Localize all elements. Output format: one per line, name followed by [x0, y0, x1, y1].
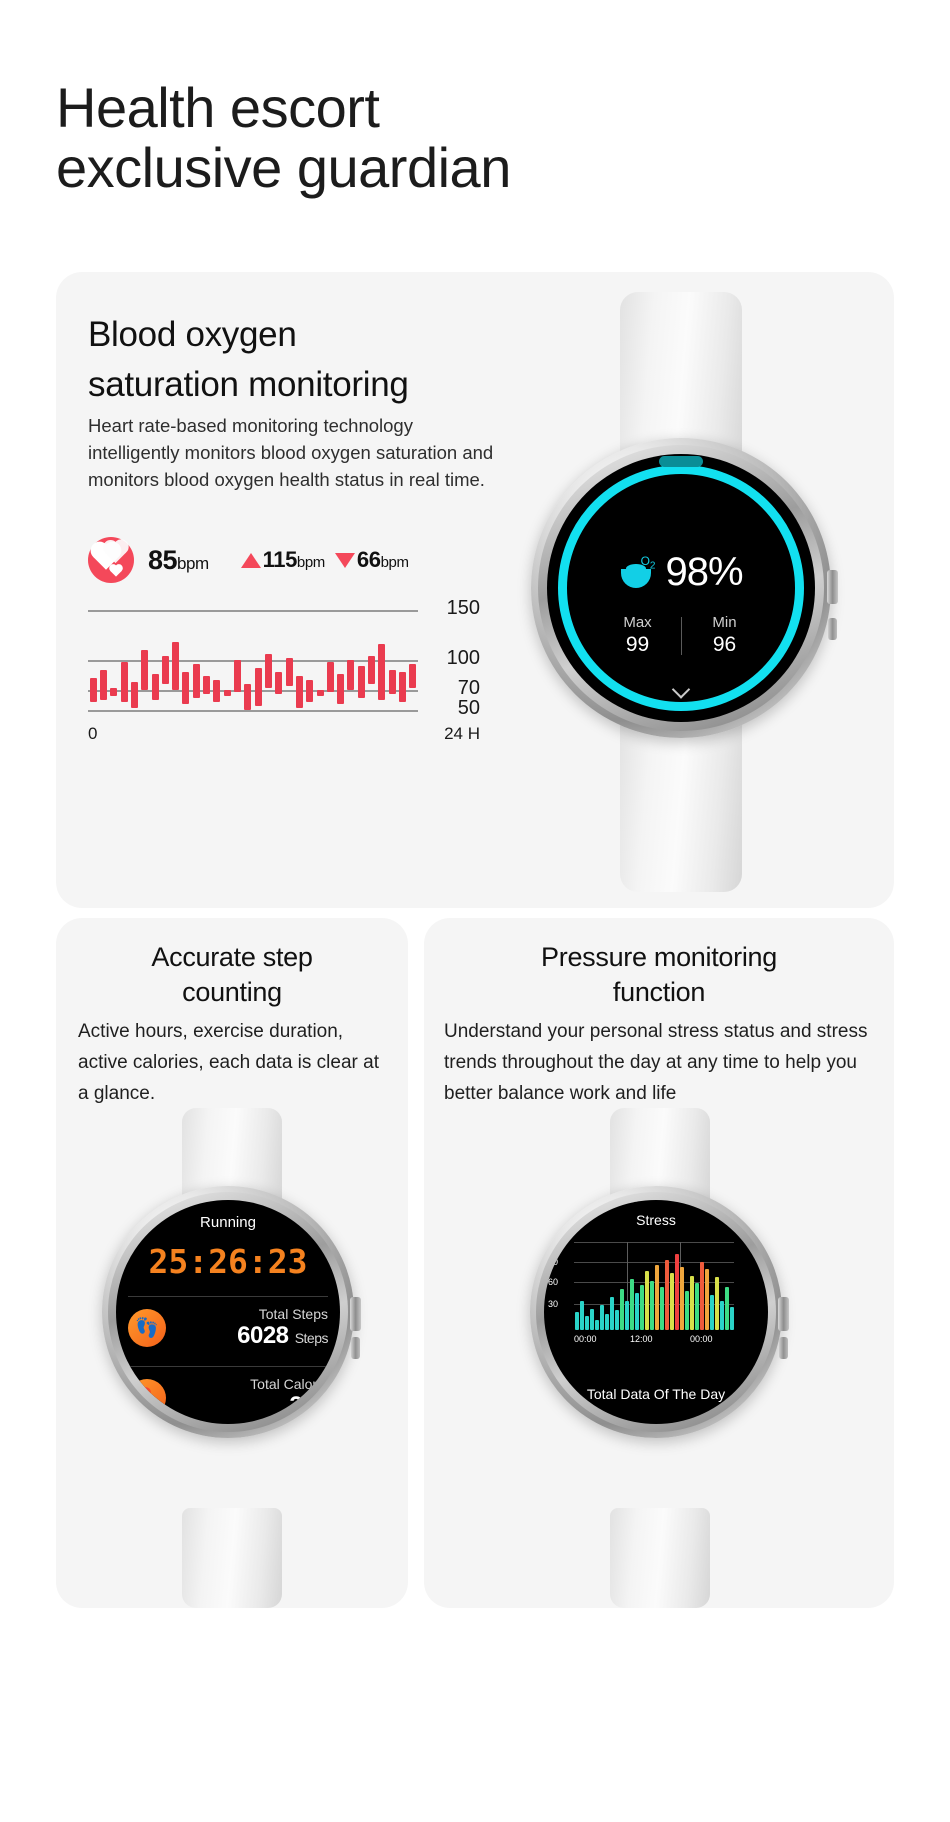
stress-bar	[705, 1269, 709, 1330]
watch-case: Stress 10080603000:0012:0000:00 Total Da…	[530, 1186, 782, 1438]
stress-bar	[680, 1267, 684, 1330]
blood-oxygen-card: Blood oxygen saturation monitoring Heart…	[56, 272, 894, 908]
stress-y-tick: 60	[548, 1277, 558, 1287]
chart-bar	[275, 672, 282, 694]
stress-x-tick: 12:00	[630, 1334, 653, 1344]
divider	[128, 1296, 328, 1297]
chart-bar	[172, 642, 179, 690]
stress-bar	[625, 1301, 629, 1330]
current-bpm: 85bpm	[148, 545, 209, 576]
stress-bar	[720, 1301, 724, 1330]
chart-bar	[203, 676, 210, 694]
stress-bar	[700, 1262, 704, 1330]
page-title-line2: exclusive guardian	[56, 138, 511, 198]
watch-case: O2 98% Max 99 Min 96	[531, 438, 831, 738]
chart-bar	[162, 656, 169, 684]
chart-bar	[306, 680, 313, 702]
blood-oxygen-description: Heart rate-based monitoring technology i…	[88, 412, 508, 493]
stress-x-tick: 00:00	[690, 1334, 713, 1344]
min-arrow-down-icon	[335, 553, 355, 568]
chart-bar	[182, 672, 189, 704]
chart-bar	[286, 658, 293, 686]
stress-gridline	[574, 1282, 734, 1283]
heart-rate-summary: 85bpm 115bpm 66bpm	[88, 536, 518, 584]
oxygen-min-value: 96	[682, 633, 768, 657]
chart-bar	[152, 674, 159, 700]
stress-screen-title: Stress	[544, 1212, 768, 1228]
total-steps-unit: Steps	[295, 1330, 328, 1346]
stress-bar	[725, 1287, 729, 1330]
stress-bar	[715, 1277, 719, 1330]
chart-bar	[131, 682, 138, 708]
watch-screen: O2 98% Max 99 Min 96	[547, 454, 815, 722]
flame-icon: 🔥	[128, 1379, 166, 1417]
watch-crown[interactable]	[350, 1297, 361, 1331]
watch-side-button[interactable]	[828, 618, 837, 640]
total-calorie-text: Total Calorie 328	[166, 1376, 328, 1420]
oxygen-max-value: 99	[595, 633, 681, 657]
max-arrow-up-icon	[241, 553, 261, 568]
stress-bar	[600, 1305, 604, 1330]
run-mode-label: Running	[116, 1214, 340, 1231]
oxygen-ring-gap	[659, 456, 703, 467]
max-bpm: 115bpm	[263, 547, 325, 573]
chart-bar	[337, 674, 344, 704]
chart-bar	[213, 680, 220, 702]
chart-bar	[389, 670, 396, 694]
chart-gridline	[88, 710, 418, 712]
stress-bar	[605, 1314, 609, 1330]
watch-side-button[interactable]	[779, 1337, 788, 1359]
min-bpm-value: 66	[357, 547, 381, 572]
watch-screen: Running 25:26:23 👣 Total Steps 6028 Step…	[116, 1200, 340, 1424]
min-bpm: 66bpm	[357, 547, 409, 573]
chart-bar	[265, 654, 272, 688]
total-calorie-value: 328	[166, 1392, 328, 1420]
heart-rate-chart: 1501007050 024 H	[88, 600, 480, 740]
chart-gridline	[88, 610, 418, 612]
stress-bar	[635, 1293, 639, 1330]
stress-bar	[670, 1273, 674, 1330]
watch-case: Running 25:26:23 👣 Total Steps 6028 Step…	[102, 1186, 354, 1438]
stress-bar	[675, 1254, 679, 1330]
stress-bar	[595, 1320, 599, 1330]
stress-chart: 10080603000:0012:0000:00	[574, 1242, 734, 1330]
chart-bar	[255, 668, 262, 706]
product-page: Health escort exclusive guardian Blood o…	[0, 0, 950, 1822]
stress-bar	[650, 1281, 654, 1330]
stress-bar	[630, 1279, 634, 1330]
watch-strap-bottom	[182, 1508, 282, 1608]
chart-bar	[224, 690, 231, 696]
chart-bar	[141, 650, 148, 690]
pressure-monitoring-card: Pressure monitoring function Understand …	[424, 918, 894, 1608]
stress-bar	[590, 1309, 594, 1331]
oxygen-max-cell: Max 99	[595, 614, 681, 657]
oxygen-drop-icon: O2	[619, 556, 653, 590]
stress-bar	[585, 1316, 589, 1330]
total-steps-text: Total Steps 6028 Steps	[166, 1306, 328, 1350]
pressure-monitoring-title: Pressure monitoring function	[424, 940, 894, 1010]
stress-bar	[580, 1301, 584, 1330]
steps-watch-render: Running 25:26:23 👣 Total Steps 6028 Step…	[74, 1108, 390, 1608]
stress-y-tick: 100	[548, 1237, 563, 1247]
chart-bar	[317, 690, 324, 696]
chart-bar	[244, 684, 251, 710]
pressure-title-line2: function	[613, 977, 705, 1007]
stress-gridline	[574, 1262, 734, 1263]
run-timer: 25:26:23	[116, 1242, 340, 1281]
step-title-line2: counting	[182, 977, 282, 1007]
max-bpm-unit: bpm	[297, 554, 325, 571]
stress-bar	[695, 1283, 699, 1330]
heart-icon	[88, 537, 134, 583]
stress-watch-render: Stress 10080603000:0012:0000:00 Total Da…	[502, 1108, 818, 1608]
stress-x-tick: 00:00	[574, 1334, 597, 1344]
chart-bar	[234, 660, 241, 692]
pressure-title-line1: Pressure monitoring	[541, 942, 777, 972]
watch-crown[interactable]	[827, 570, 838, 604]
blood-oxygen-title-line2: saturation monitoring	[88, 365, 409, 404]
stress-bar	[640, 1285, 644, 1330]
chart-bar	[378, 644, 385, 700]
stress-bar	[615, 1310, 619, 1330]
chart-bar	[193, 664, 200, 698]
blood-oxygen-title: Blood oxygen saturation monitoring	[88, 310, 409, 410]
stress-bar	[645, 1271, 649, 1330]
page-title-line1: Health escort	[56, 76, 379, 139]
chart-bar	[121, 662, 128, 702]
stress-footer-label: Total Data Of The Day	[544, 1386, 768, 1402]
chart-y-tick: 100	[447, 647, 480, 670]
chart-bar	[100, 670, 107, 700]
chart-bar	[368, 656, 375, 684]
stress-bar	[730, 1307, 734, 1330]
stress-bar	[710, 1295, 714, 1330]
total-calorie-label: Total Calorie	[166, 1376, 328, 1392]
oxygen-watch-render: O2 98% Max 99 Min 96	[516, 292, 846, 892]
watch-strap-bottom	[610, 1508, 710, 1608]
step-counting-title: Accurate step counting	[56, 940, 408, 1010]
oxygen-reading-row: O2 98%	[547, 550, 815, 595]
blood-oxygen-title-line1: Blood oxygen	[88, 315, 297, 354]
stress-bar	[685, 1291, 689, 1330]
oxygen-minmax-row: Max 99 Min 96	[547, 614, 815, 657]
running-shoe-icon: 👣	[128, 1309, 166, 1347]
stress-gridline	[574, 1242, 734, 1243]
total-calorie-row: 🔥 Total Calorie 328	[128, 1376, 328, 1420]
divider	[128, 1366, 328, 1367]
total-steps-number: 6028	[237, 1322, 288, 1349]
chart-bar	[358, 666, 365, 698]
oxygen-max-label: Max	[595, 614, 681, 631]
chart-bar	[327, 662, 334, 692]
oxygen-min-label: Min	[682, 614, 768, 631]
chart-bar	[296, 676, 303, 708]
total-steps-value: 6028 Steps	[166, 1322, 328, 1350]
step-counting-card: Accurate step counting Active hours, exe…	[56, 918, 408, 1608]
step-title-line1: Accurate step	[151, 942, 312, 972]
chart-bar	[409, 664, 416, 688]
stress-bar	[620, 1289, 624, 1330]
chart-bar	[90, 678, 97, 702]
stress-bar	[575, 1312, 579, 1330]
stress-bar	[660, 1287, 664, 1330]
oxygen-subscript: O2	[641, 554, 656, 571]
watch-crown[interactable]	[778, 1297, 789, 1331]
oxygen-min-cell: Min 96	[682, 614, 768, 657]
stress-bar	[610, 1297, 614, 1330]
max-bpm-value: 115	[263, 547, 297, 572]
total-steps-row: 👣 Total Steps 6028 Steps	[128, 1306, 328, 1350]
chart-bar	[399, 672, 406, 702]
page-title: Health escort exclusive guardian	[56, 78, 511, 198]
chart-y-tick: 50	[458, 697, 480, 720]
current-bpm-unit: bpm	[177, 554, 209, 573]
chart-x-tick: 24 H	[444, 724, 480, 744]
stress-bar	[690, 1276, 694, 1330]
watch-screen: Stress 10080603000:0012:0000:00 Total Da…	[544, 1200, 768, 1424]
oxygen-value: 98%	[665, 550, 742, 595]
stress-bar	[665, 1260, 669, 1330]
chart-bar	[347, 660, 354, 690]
min-bpm-unit: bpm	[381, 554, 409, 571]
chart-bar	[110, 688, 117, 696]
step-counting-description: Active hours, exercise duration, active …	[78, 1016, 386, 1109]
chart-y-tick: 150	[447, 597, 480, 620]
chart-x-tick: 0	[88, 724, 97, 744]
heart-rate-plot	[88, 600, 418, 720]
stress-bar	[655, 1265, 659, 1330]
pressure-monitoring-description: Understand your personal stress status a…	[444, 1016, 876, 1109]
stress-y-tick: 30	[548, 1299, 558, 1309]
total-steps-label: Total Steps	[166, 1306, 328, 1322]
stress-y-tick: 80	[548, 1257, 558, 1267]
watch-side-button[interactable]	[351, 1337, 360, 1359]
current-bpm-value: 85	[148, 545, 177, 575]
